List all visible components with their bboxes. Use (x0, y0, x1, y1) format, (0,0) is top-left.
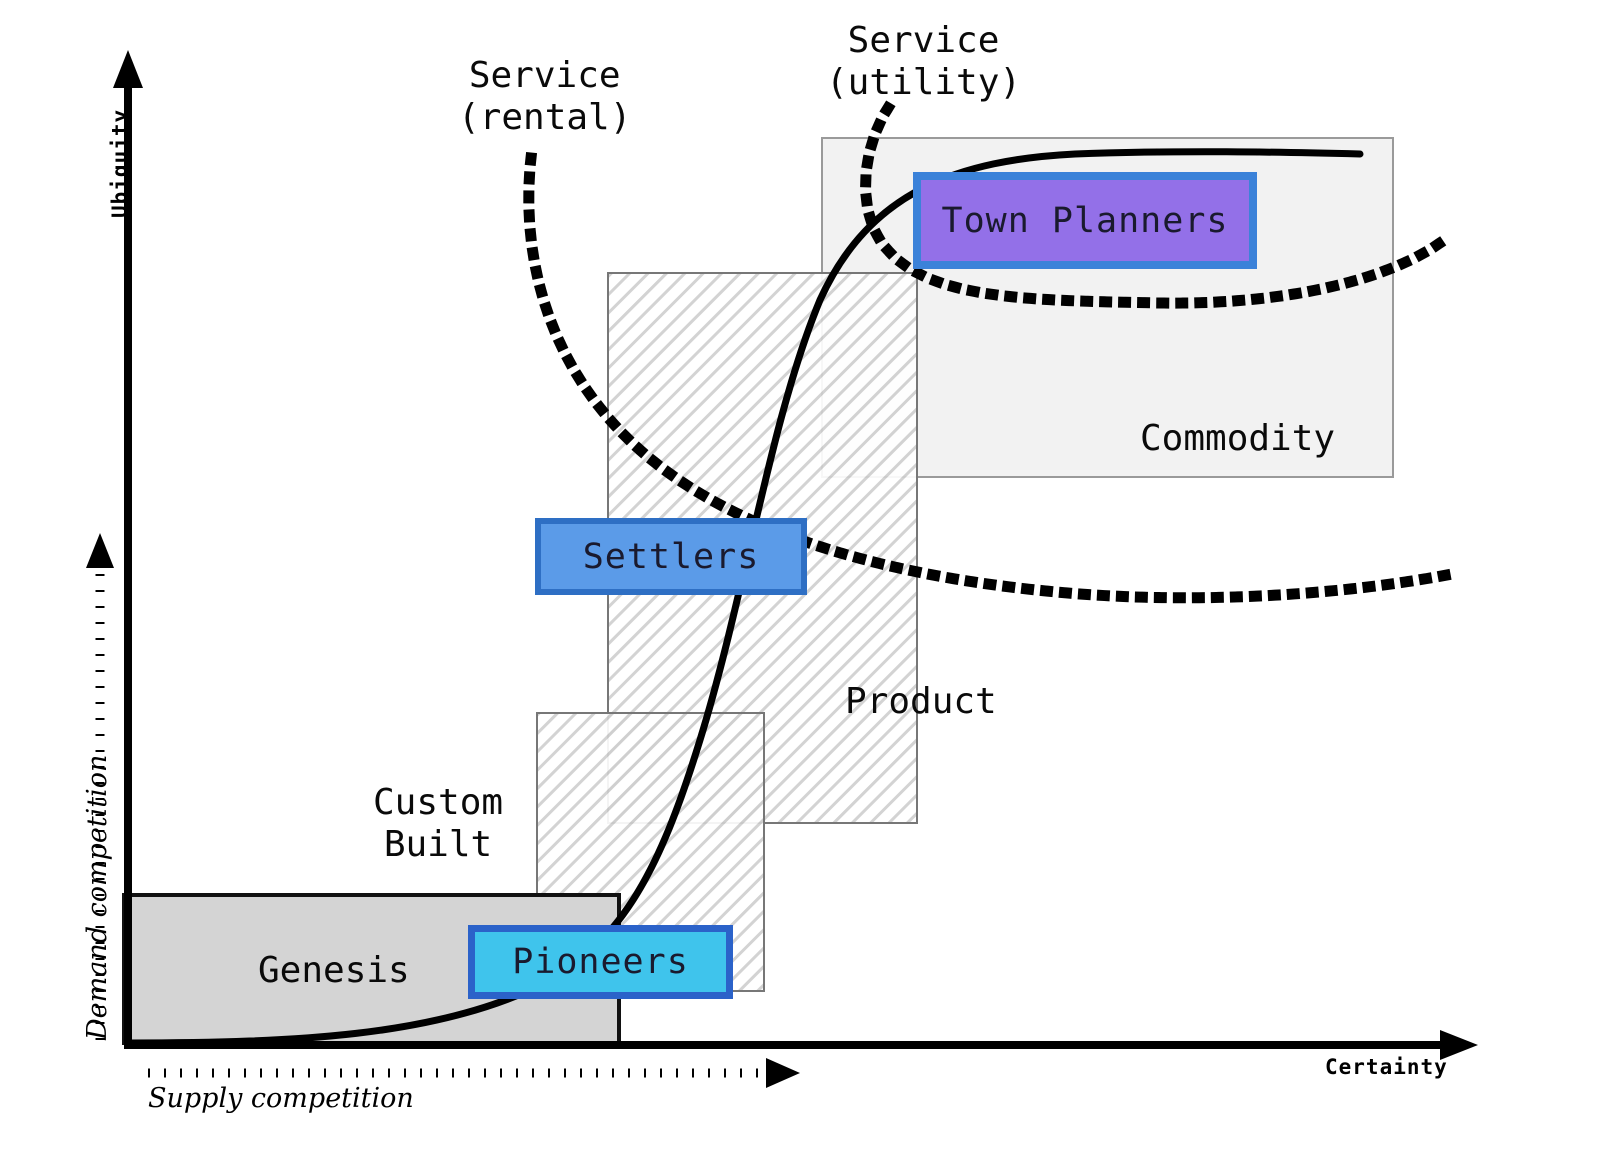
axis-label-ubiquity: Ubiquity (108, 109, 132, 218)
axis-label-supply-competition: Supply competition (148, 1083, 414, 1114)
evolution-label-service-rental: Service (rental) (458, 55, 631, 140)
axis-label-certainty: Certainty (1325, 1055, 1448, 1079)
wardley-map-canvas: Town Planners Settlers Pioneers Ubiquity… (0, 0, 1600, 1161)
axes-layer (0, 0, 1600, 1161)
stage-label-product: Product (845, 681, 997, 723)
evolution-label-service-utility: Service (utility) (826, 20, 1021, 105)
stage-label-commodity: Commodity (1140, 418, 1335, 460)
stage-label-custom-built: Custom Built (373, 782, 503, 867)
axis-label-demand-competition: Demand competition (82, 755, 113, 1040)
stage-label-genesis: Genesis (258, 950, 410, 992)
